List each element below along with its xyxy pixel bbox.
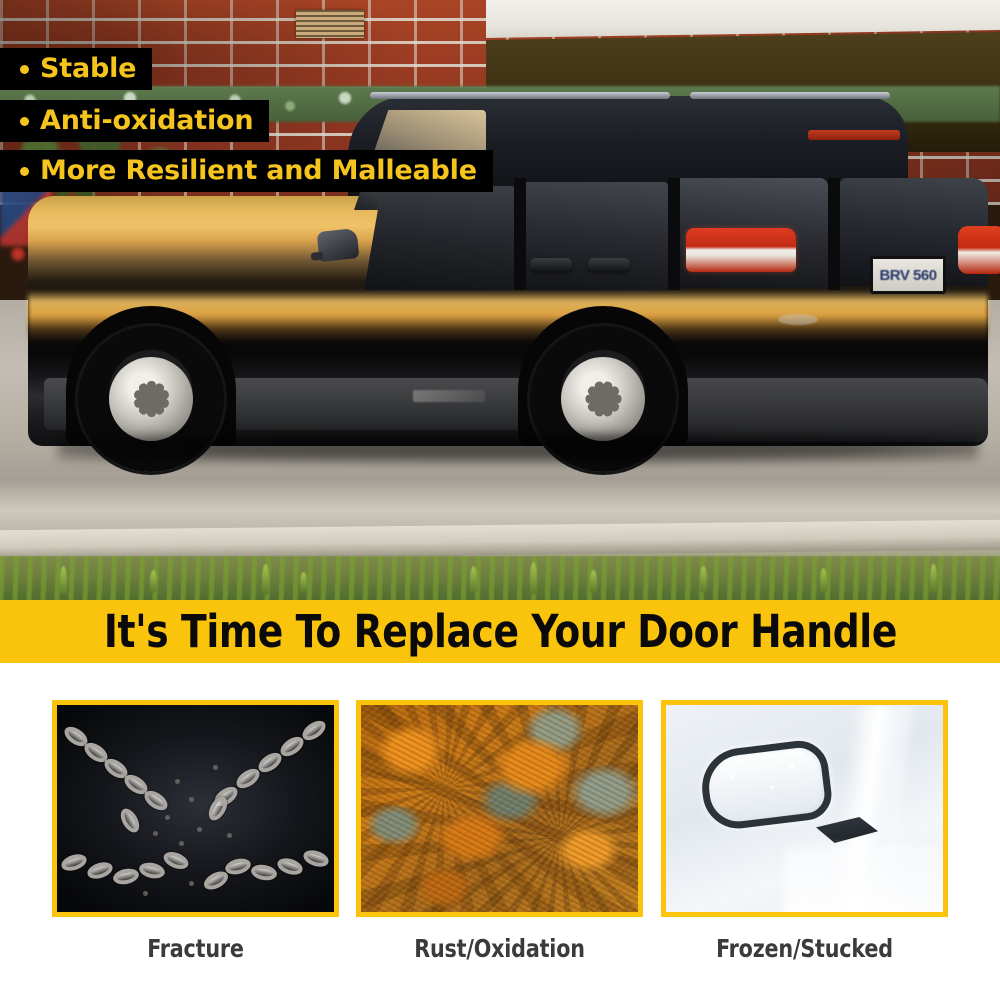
rusted-metal-image [356, 700, 643, 917]
feature-callout-label: Anti-oxidation [40, 105, 253, 136]
thumbnail-card-rust: Rust/Oxidation [356, 700, 643, 963]
grass-blade [820, 568, 827, 592]
sienna-badge [413, 390, 485, 402]
toyota-badge [778, 314, 818, 325]
license-plate-text: BRV 560 [879, 268, 936, 283]
front-door-window [364, 186, 514, 290]
license-plate: BRV 560 [870, 256, 946, 294]
bullet-dot-icon [20, 65, 29, 74]
front-wheel-rim [109, 357, 193, 441]
frozen-car-mirror-image [661, 700, 948, 917]
bullet-dot-icon [20, 167, 29, 176]
headline-banner: It's Time To Replace Your Door Handle [0, 600, 1000, 663]
d-pillar [828, 178, 840, 290]
roof-rail [690, 92, 890, 99]
grass-blade [700, 566, 707, 592]
grass-blade [150, 570, 157, 592]
bullet-dot-icon [20, 117, 29, 126]
feature-callout-stable: Stable [0, 48, 152, 90]
roof-rail [370, 92, 670, 99]
grass-blade [930, 564, 937, 592]
front-door-handle [530, 258, 572, 271]
van-ground-shadow [58, 434, 978, 462]
c-pillar [668, 178, 680, 290]
rear-door-window [522, 182, 668, 290]
wall-vent-grille [296, 10, 364, 38]
side-mirror [317, 228, 360, 262]
feature-callout-resilient: More Resilient and Malleable [0, 150, 493, 192]
grass-blade [60, 566, 67, 594]
headline-text: It's Time To Replace Your Door Handle [103, 609, 896, 654]
feature-callout-label: Stable [40, 53, 136, 84]
high-mount-brake-light [808, 130, 900, 140]
b-pillar [514, 178, 526, 290]
grass-blade [530, 562, 537, 594]
grass-blade [300, 572, 307, 592]
rear-bumper [658, 378, 988, 442]
broken-chain-image [52, 700, 339, 917]
grass-blade [470, 566, 477, 592]
rear-corner-light [958, 226, 1000, 274]
thumbnail-caption: Frozen/Stucked [672, 935, 936, 963]
feature-callout-anti-oxidation: Anti-oxidation [0, 100, 269, 142]
problem-thumbnail-row: Fracture Rust/Oxidation Frozen/Stucked [0, 663, 1000, 1000]
grass-blade [590, 570, 597, 592]
rear-wheel-rim [561, 357, 645, 441]
tail-light [686, 228, 796, 272]
feature-callout-label: More Resilient and Malleable [40, 155, 477, 186]
rear-door-handle [588, 258, 630, 271]
thumbnail-card-fracture: Fracture [52, 700, 339, 963]
thumbnail-caption: Rust/Oxidation [367, 935, 631, 963]
thumbnail-card-frozen: Frozen/Stucked [661, 700, 948, 963]
grass-blade [262, 564, 269, 594]
black-minivan: BRV 560 [18, 78, 1000, 518]
thumbnail-caption: Fracture [63, 935, 327, 963]
hero-photo: BRV 560 Stable [0, 0, 1000, 600]
